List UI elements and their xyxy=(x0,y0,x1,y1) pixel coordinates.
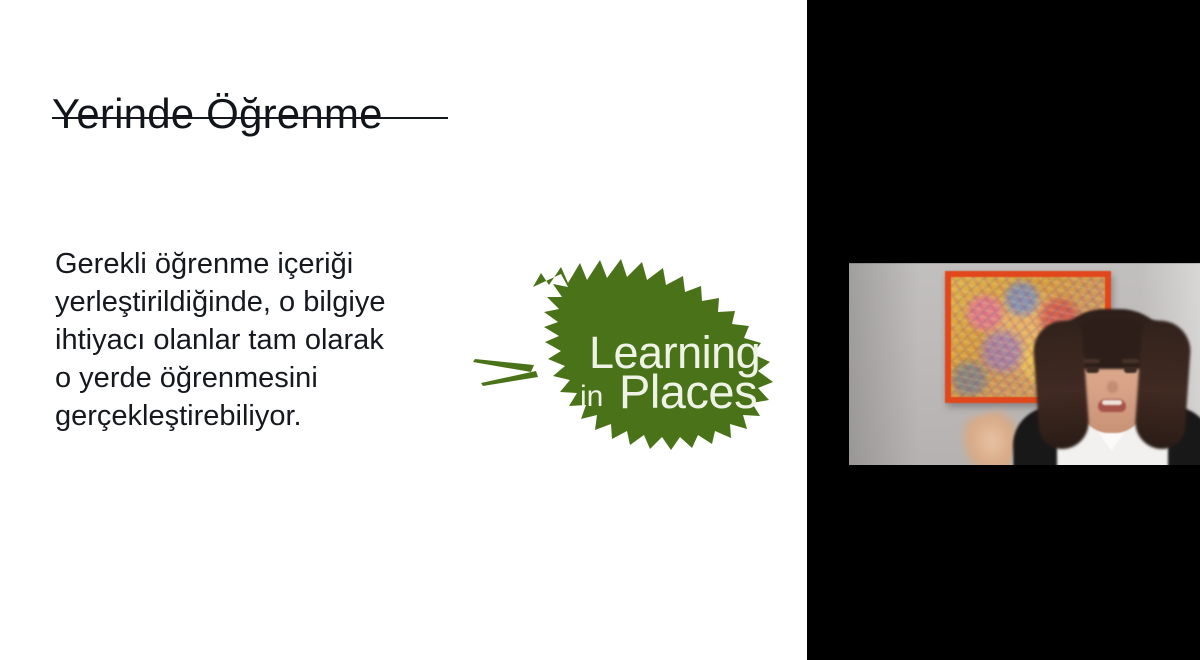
eyebrow-left xyxy=(1083,359,1100,363)
teeth xyxy=(1102,400,1122,405)
participant-person xyxy=(1017,301,1200,465)
slide-body-text: Gerekli öğrenme içeriği yerleştirildiğin… xyxy=(55,246,400,436)
nose xyxy=(1107,381,1118,393)
title-underline xyxy=(52,117,448,119)
page-title: Yerinde Öğrenme xyxy=(52,91,383,137)
learning-in-places-leaf-logo: Learning in Places xyxy=(437,243,782,468)
webcam-video-frame xyxy=(849,263,1200,465)
hair-front-left xyxy=(1031,319,1090,450)
webcam-participant-tile[interactable] xyxy=(849,263,1200,465)
svg-text:in: in xyxy=(580,380,603,413)
wall-shadow-left xyxy=(849,263,919,465)
eye-left xyxy=(1086,367,1099,373)
eyebrow-right xyxy=(1122,359,1139,363)
eye-right xyxy=(1124,367,1137,373)
svg-text:Places: Places xyxy=(619,365,757,418)
hair-front-right xyxy=(1133,319,1192,450)
presentation-slide: Yerinde Öğrenme Gerekli öğrenme içeriği … xyxy=(0,0,807,660)
screen-root: Yerinde Öğrenme Gerekli öğrenme içeriği … xyxy=(0,0,1200,660)
